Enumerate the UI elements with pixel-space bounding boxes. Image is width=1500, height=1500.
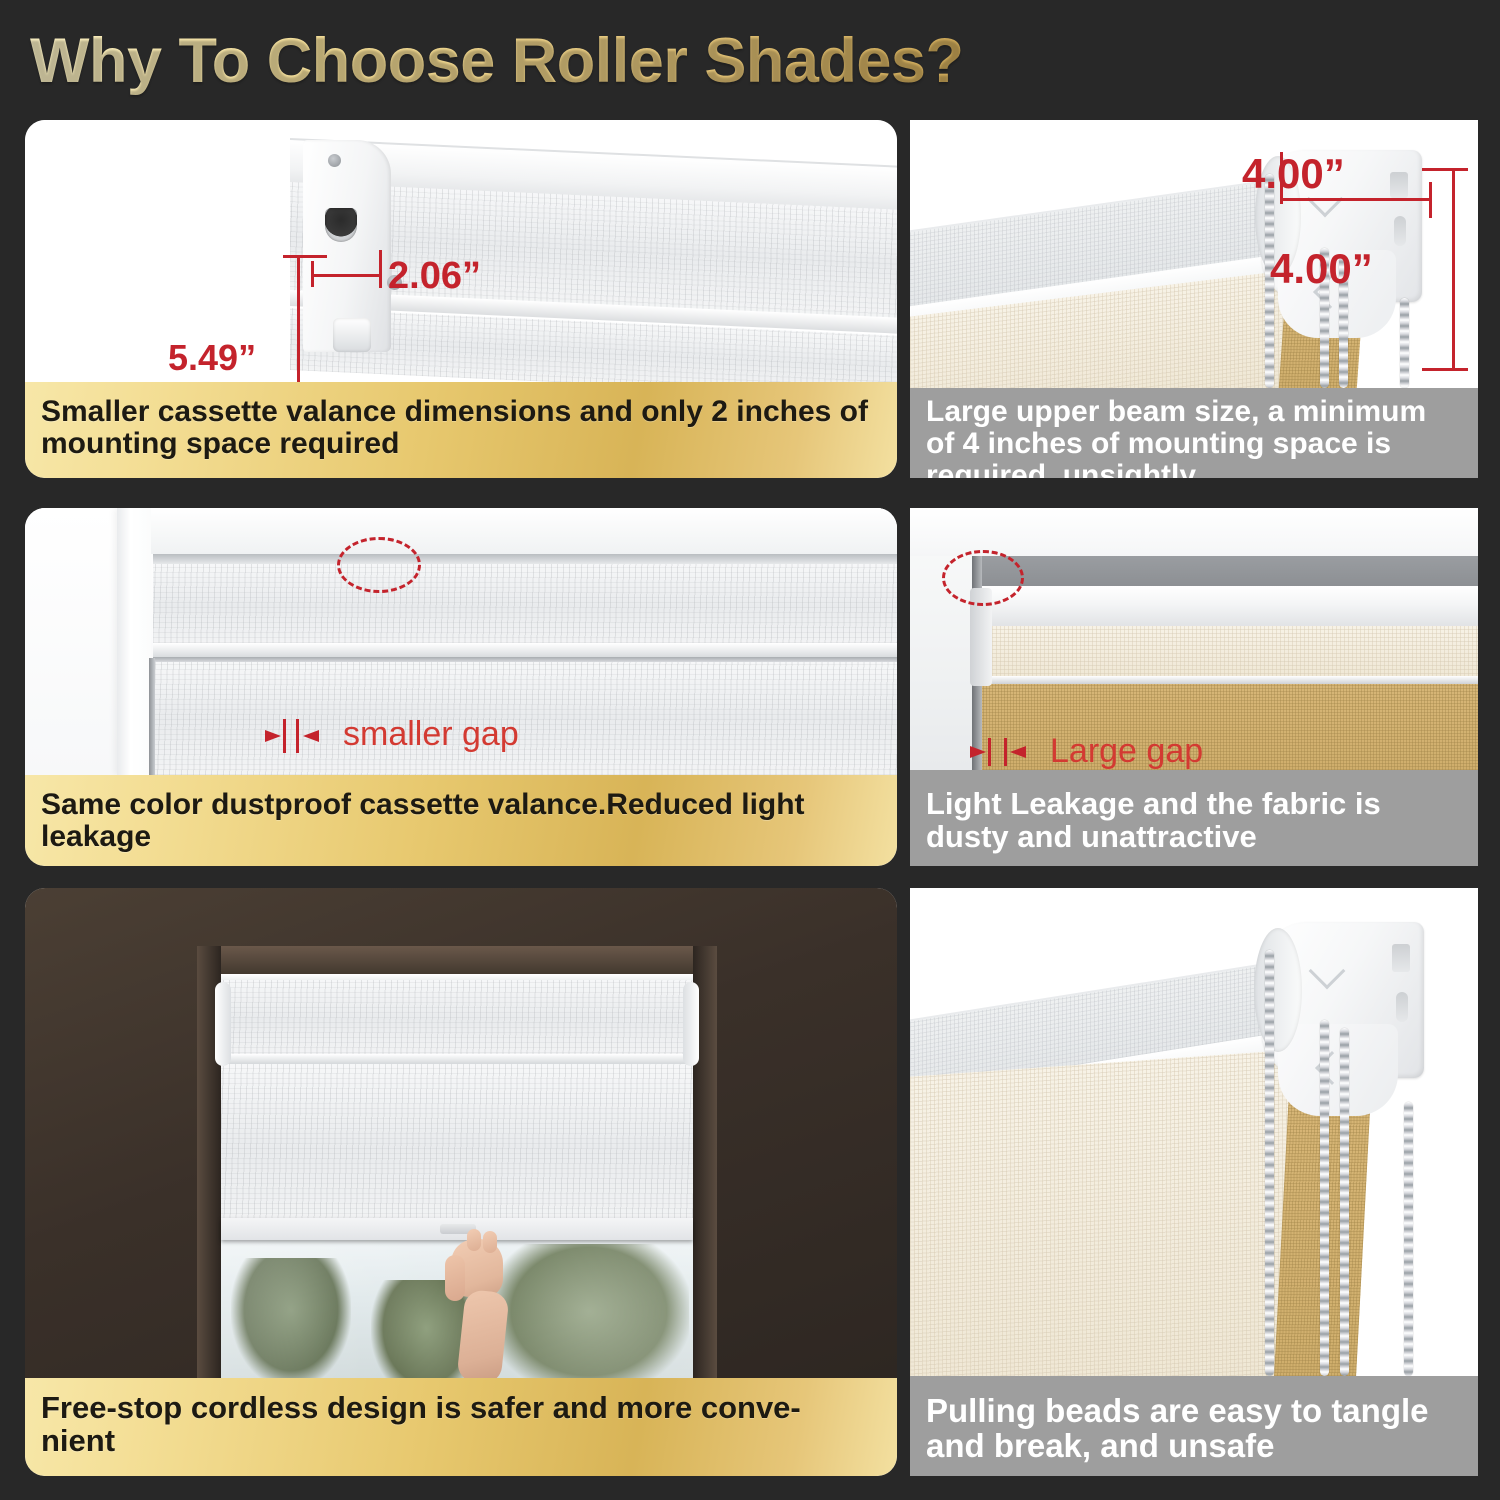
smaller-gap-label: smaller gap	[343, 715, 519, 754]
window-recess-head	[197, 946, 717, 974]
end-cap-bracket-clip	[333, 318, 371, 352]
dustproof-shade-fabric	[153, 662, 897, 775]
cordless-end-cap-right	[683, 982, 699, 1066]
panel-caption-pulling-beads: Pulling beads are easy to tangle and bre…	[910, 1376, 1478, 1476]
leakage-fabric-edge	[972, 676, 1478, 684]
hand-thumb	[445, 1255, 465, 1301]
hand-forearm	[456, 1289, 509, 1378]
panel-photo-large-upper-beam: 4.00” 4.00”	[910, 120, 1478, 388]
cordless-valance-face	[221, 980, 693, 1058]
beam-width-tick-right	[1429, 182, 1432, 218]
caption-text: Smaller cassette valance dimensions and …	[41, 395, 868, 460]
bracket-slot-upper	[1390, 172, 1408, 198]
dustproof-valance-face	[153, 564, 897, 648]
caption-text: Light Leakage and the fabric is dusty an…	[926, 786, 1381, 854]
smaller-gap-arrow-right	[303, 726, 343, 746]
panel-photo-dustproof-cassette: smaller gap	[25, 508, 897, 775]
beads-bracket-slot-upper	[1392, 944, 1410, 972]
cordless-shade-fabric	[221, 1064, 693, 1234]
window-frame-head	[151, 508, 897, 554]
bracket-slot-lower	[1394, 216, 1406, 246]
caption-line-2: nient	[41, 1425, 881, 1458]
height-dimension-tick-top	[283, 255, 327, 258]
pull-bead-chain-middle	[1320, 1020, 1329, 1376]
caption-line-1: Pulling beads are easy to tangle	[926, 1394, 1462, 1429]
panel-caption-large-upper-beam: Large upper beam size, a minimum of 4 in…	[910, 388, 1478, 478]
smaller-gap-arrow-left	[241, 726, 281, 746]
end-cap-clutch-slot	[325, 208, 357, 242]
ceiling-surface	[910, 508, 1478, 556]
panel-cassette-dimensions: 2.06” 5.49” Smaller cassette valance dim…	[25, 120, 897, 478]
large-gap-arrow-right	[1010, 742, 1050, 762]
large-gap-label: Large gap	[1050, 732, 1203, 770]
height-dimension-line	[297, 256, 300, 385]
width-dimension-label: 2.06”	[388, 255, 481, 298]
panel-caption-cordless-design: Free-stop cordless design is safer and m…	[25, 1378, 897, 1476]
caption-line-1: Free-stop cordless design is safer and m…	[41, 1392, 881, 1425]
panel-photo-cassette-dimensions: 2.06” 5.49”	[25, 120, 897, 385]
caption-text: Same color dustproof cassette valance.Re…	[41, 788, 805, 853]
height-dimension-label: 5.49”	[168, 337, 256, 379]
beam-width-dimension-line	[1282, 198, 1432, 201]
end-cap-screw-top	[328, 154, 341, 167]
dustproof-head-rail	[153, 554, 897, 564]
hand-finger-middle	[483, 1231, 497, 1253]
smaller-gap-marker-a	[283, 719, 286, 753]
panel-caption-dustproof-cassette: Same color dustproof cassette valance.Re…	[25, 775, 897, 866]
panel-photo-pulling-beads	[910, 888, 1478, 1376]
panel-caption-cassette-dimensions: Smaller cassette valance dimensions and …	[25, 382, 897, 478]
pull-bead-chain-loop	[1404, 1102, 1413, 1376]
caption-line-2: and break, and unsafe	[926, 1429, 1462, 1464]
cordless-end-cap-left	[215, 982, 231, 1066]
leakage-fabric-cream	[972, 626, 1478, 682]
width-dimension-tick-right	[379, 250, 382, 288]
hand-finger-index	[467, 1229, 481, 1251]
beam-height-tick-top	[1422, 168, 1468, 171]
panel-photo-light-leakage: Large gap	[910, 508, 1478, 770]
gap-highlight-circle	[337, 537, 421, 593]
dustproof-valance-lip	[153, 643, 897, 657]
width-dimension-tick-left	[311, 261, 314, 287]
smaller-gap-marker-b	[296, 719, 299, 753]
page-title: Why To Choose Roller Shades?	[30, 22, 1130, 100]
beads-bracket-end-disc	[1254, 928, 1302, 1052]
pull-bead-chain-rear	[1340, 1028, 1349, 1376]
panel-cordless-design: Free-stop cordless design is safer and m…	[25, 888, 897, 1476]
beam-height-dimension-line	[1452, 170, 1455, 370]
caption-text: Large upper beam size, a minimum of 4 in…	[926, 395, 1426, 478]
window-frame-left-jamb	[117, 508, 151, 775]
panel-photo-cordless-design	[25, 888, 897, 1378]
bead-chain-loop	[1400, 298, 1409, 388]
dustproof-side-channel	[149, 658, 155, 775]
large-gap-highlight-circle	[942, 550, 1024, 606]
panel-dustproof-cassette: smaller gap Same color dustproof cassett…	[25, 508, 897, 866]
cordless-valance-lip	[221, 1054, 693, 1064]
panel-caption-light-leakage: Light Leakage and the fabric is dusty an…	[910, 770, 1478, 866]
beads-shade-fabric-cream	[910, 1050, 1290, 1376]
pull-bead-chain-front	[1265, 950, 1274, 1376]
hand-reaching	[445, 1233, 515, 1378]
panel-pulling-beads: Pulling beads are easy to tangle and bre…	[910, 888, 1478, 1476]
width-dimension-line	[313, 274, 381, 277]
large-gap-arrow-left	[946, 742, 986, 762]
large-gap-marker-a	[988, 738, 991, 766]
beam-height-tick-bottom	[1422, 368, 1468, 371]
panel-large-upper-beam: 4.00” 4.00” Large upper beam size, a min…	[910, 120, 1478, 478]
beads-bracket-slot-lower	[1396, 992, 1408, 1022]
large-gap-marker-b	[1004, 738, 1007, 766]
infographic-root: Why To Choose Roller Shades? 2.06” 5.49”	[0, 0, 1500, 1500]
beam-width-dimension-label: 4.00”	[1242, 150, 1345, 198]
beam-height-dimension-label: 4.00”	[1270, 245, 1373, 293]
panel-light-leakage: Large gap Light Leakage and the fabric i…	[910, 508, 1478, 866]
